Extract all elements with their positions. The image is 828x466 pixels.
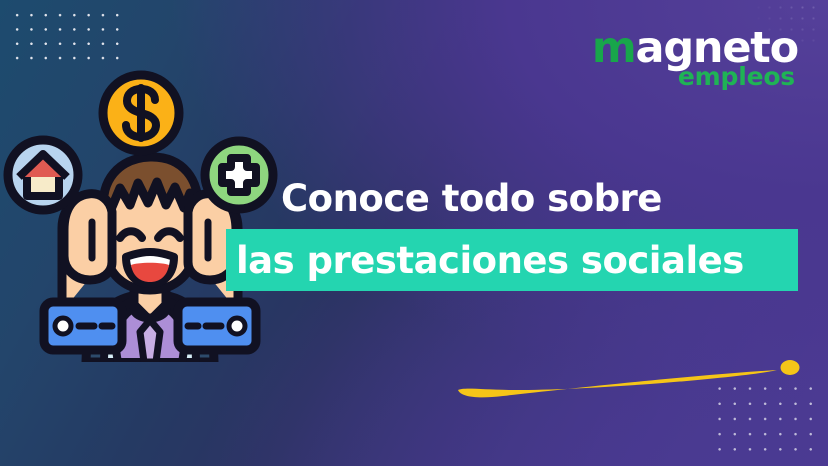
medical-cross-icon — [205, 141, 273, 209]
headline-line-2: las prestaciones sociales — [236, 239, 744, 282]
dot-grid-top-left-decoration — [10, 8, 122, 70]
yellow-swoosh-decoration — [455, 356, 805, 400]
illustration-happy-man-benefits — [0, 62, 300, 362]
magneto-empleos-logo[interactable]: magneto empleos — [592, 27, 798, 89]
logo-initial-m: m — [592, 23, 636, 73]
house-icon — [8, 140, 78, 210]
promo-banner: Conoce todo sobre las prestaciones socia… — [0, 0, 828, 466]
money-coin-icon — [103, 75, 179, 151]
headline-line-1: Conoce todo sobre — [281, 177, 662, 220]
